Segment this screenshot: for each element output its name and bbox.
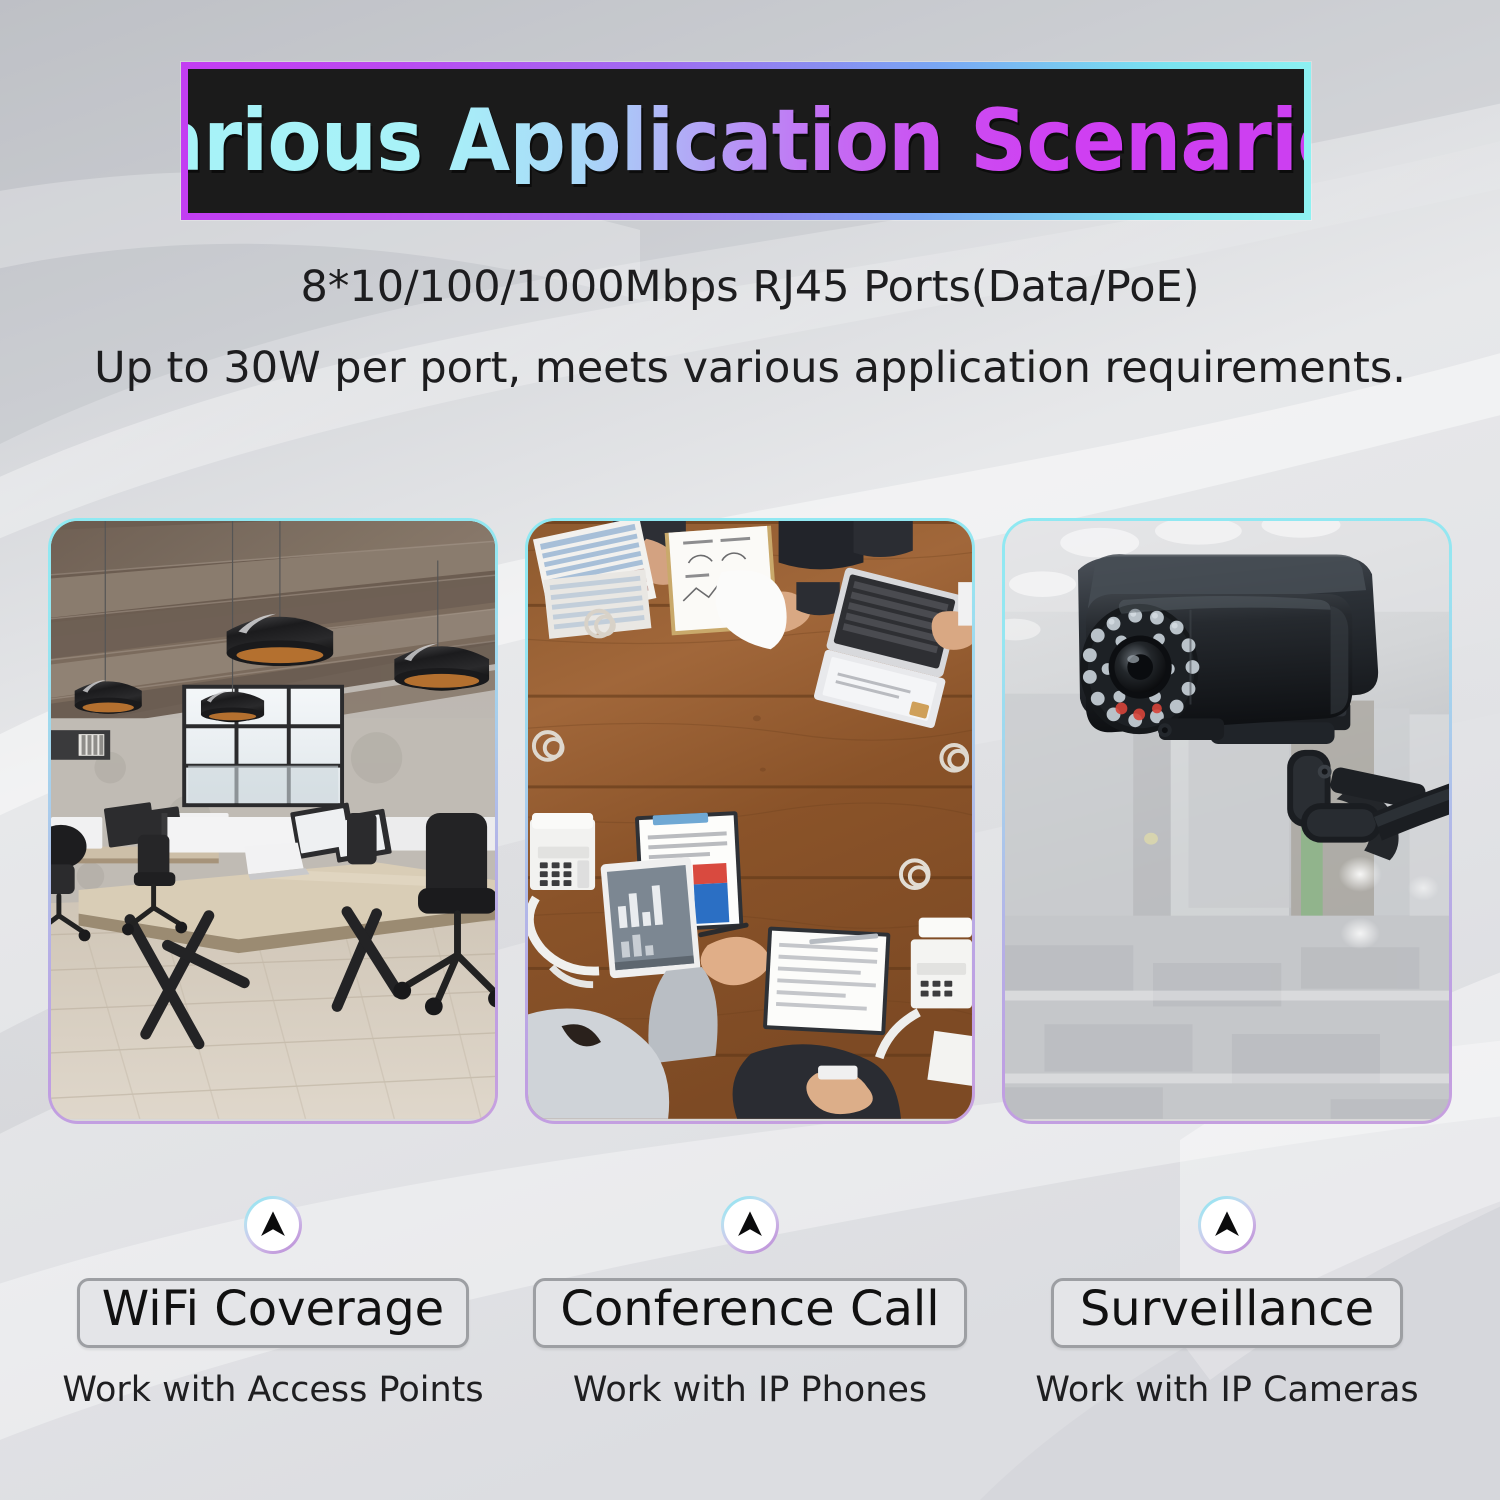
scenario-card-wifi bbox=[48, 518, 498, 1124]
scenario-card-surveillance-image bbox=[1005, 521, 1449, 1121]
scenario-card-conference bbox=[525, 518, 975, 1124]
feature-wifi-coverage: WiFi Coverage Work with Access Points bbox=[48, 1196, 498, 1426]
feature-surveillance-label: Surveillance bbox=[1080, 1281, 1374, 1337]
title-banner: Various Application Scenarios bbox=[181, 62, 1311, 220]
up-arrow-pin-icon bbox=[721, 1196, 779, 1254]
feature-surveillance-caption: Work with IP Cameras bbox=[1035, 1370, 1418, 1410]
feature-wifi-coverage-chip[interactable]: WiFi Coverage bbox=[77, 1278, 469, 1348]
spec-line-ports: 8*10/100/1000Mbps RJ45 Ports(Data/PoE) bbox=[0, 262, 1500, 312]
scenario-cards bbox=[48, 518, 1452, 1124]
office-interior-photo bbox=[51, 521, 495, 1119]
spec-line-power: Up to 30W per port, meets various applic… bbox=[0, 343, 1500, 393]
feature-wifi-coverage-caption: Work with Access Points bbox=[62, 1370, 483, 1410]
ip-camera-photo bbox=[1005, 521, 1449, 1119]
feature-conference-call: Conference Call Work with IP Phones bbox=[525, 1196, 975, 1426]
up-arrow-pin-icon bbox=[1198, 1196, 1256, 1254]
feature-conference-call-label: Conference Call bbox=[560, 1281, 939, 1337]
feature-conference-call-chip[interactable]: Conference Call bbox=[533, 1278, 966, 1348]
page-title: Various Application Scenarios bbox=[188, 98, 1304, 184]
conference-table-photo bbox=[528, 521, 972, 1119]
title-banner-inner: Various Application Scenarios bbox=[188, 69, 1304, 213]
up-arrow-glyph bbox=[1210, 1208, 1244, 1242]
feature-surveillance: Surveillance Work with IP Cameras bbox=[1002, 1196, 1452, 1426]
feature-conference-call-caption: Work with IP Phones bbox=[573, 1370, 927, 1410]
up-arrow-glyph bbox=[733, 1208, 767, 1242]
feature-list: WiFi Coverage Work with Access Points Co… bbox=[48, 1196, 1452, 1426]
scenario-card-conference-image bbox=[528, 521, 972, 1121]
up-arrow-glyph bbox=[256, 1208, 290, 1242]
feature-wifi-coverage-label: WiFi Coverage bbox=[102, 1281, 444, 1337]
scenario-card-surveillance bbox=[1002, 518, 1452, 1124]
feature-surveillance-chip[interactable]: Surveillance bbox=[1051, 1278, 1403, 1348]
scenario-card-wifi-image bbox=[51, 521, 495, 1121]
up-arrow-pin-icon bbox=[244, 1196, 302, 1254]
